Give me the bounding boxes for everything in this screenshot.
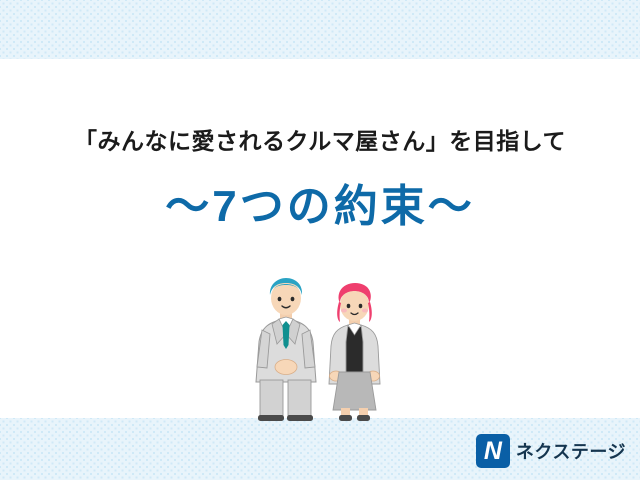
headline-line-1: 「みんなに愛されるクルマ屋さん」を目指して bbox=[0, 126, 640, 156]
headline-line-2: 〜7つの約束〜 bbox=[0, 180, 640, 234]
male-staff-figure bbox=[256, 278, 316, 421]
nextstage-logo: N ネクステージ bbox=[476, 434, 626, 468]
banner-image: 「みんなに愛されるクルマ屋さん」を目指して 〜7つの約束〜 bbox=[0, 0, 640, 480]
logo-letter-n: N bbox=[476, 434, 510, 468]
logo-wordmark: ネクステージ bbox=[516, 438, 626, 464]
logo-mark: N bbox=[476, 434, 510, 468]
female-staff-figure bbox=[329, 283, 380, 421]
top-dot-band bbox=[0, 0, 640, 59]
two-staff-members-illustration bbox=[236, 272, 408, 422]
